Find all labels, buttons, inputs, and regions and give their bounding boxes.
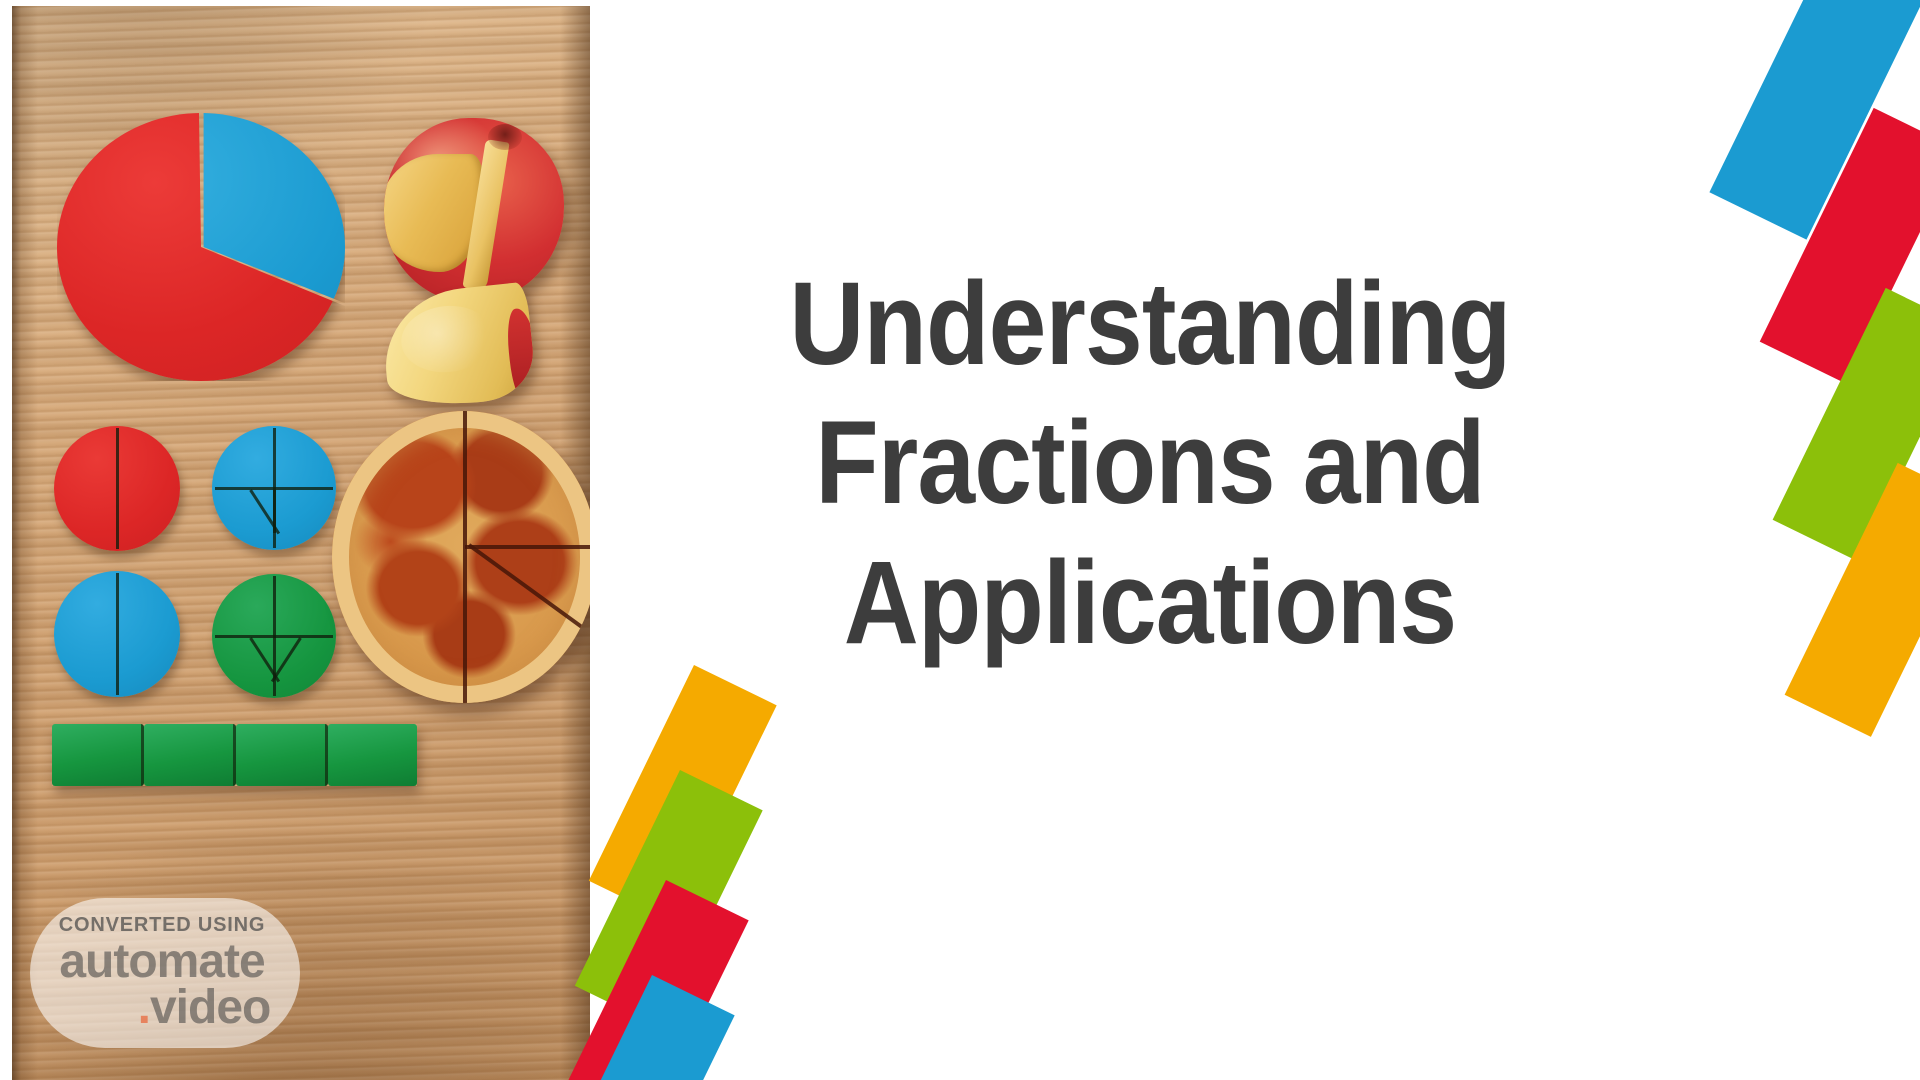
- cut-line: [116, 573, 119, 695]
- cut-line: [116, 428, 119, 549]
- cut-line: [215, 635, 333, 638]
- fraction-bar-segment: [236, 724, 328, 786]
- large-pie-chart-manipulative: [57, 113, 345, 381]
- apple-stem-dimple: [488, 124, 522, 150]
- pizza-cut-line: [463, 411, 467, 703]
- cut-line: [215, 487, 333, 490]
- disc-halves-blue: [54, 571, 180, 697]
- cut-line: [249, 490, 280, 535]
- apple-slice-highlight: [398, 301, 496, 376]
- fraction-bar-segment: [328, 724, 417, 786]
- pizza-crust: [332, 411, 590, 703]
- pizza-cut-line: [465, 545, 591, 549]
- disc-halves-red: [54, 426, 180, 551]
- pizza-sliced: [332, 411, 590, 703]
- fraction-bar-segment: [52, 724, 144, 786]
- disc-quarters-blue: [212, 426, 336, 550]
- slide-title: Understanding Fractions and Applications: [754, 255, 1546, 673]
- slide-canvas: CONVERTED USING automate .video Understa…: [0, 0, 1920, 1080]
- disc-sixths-green: [212, 574, 336, 698]
- fraction-bar-strip: [52, 724, 417, 786]
- fraction-bar-segment: [144, 724, 236, 786]
- fractions-photo: CONVERTED USING automate .video: [12, 6, 590, 1080]
